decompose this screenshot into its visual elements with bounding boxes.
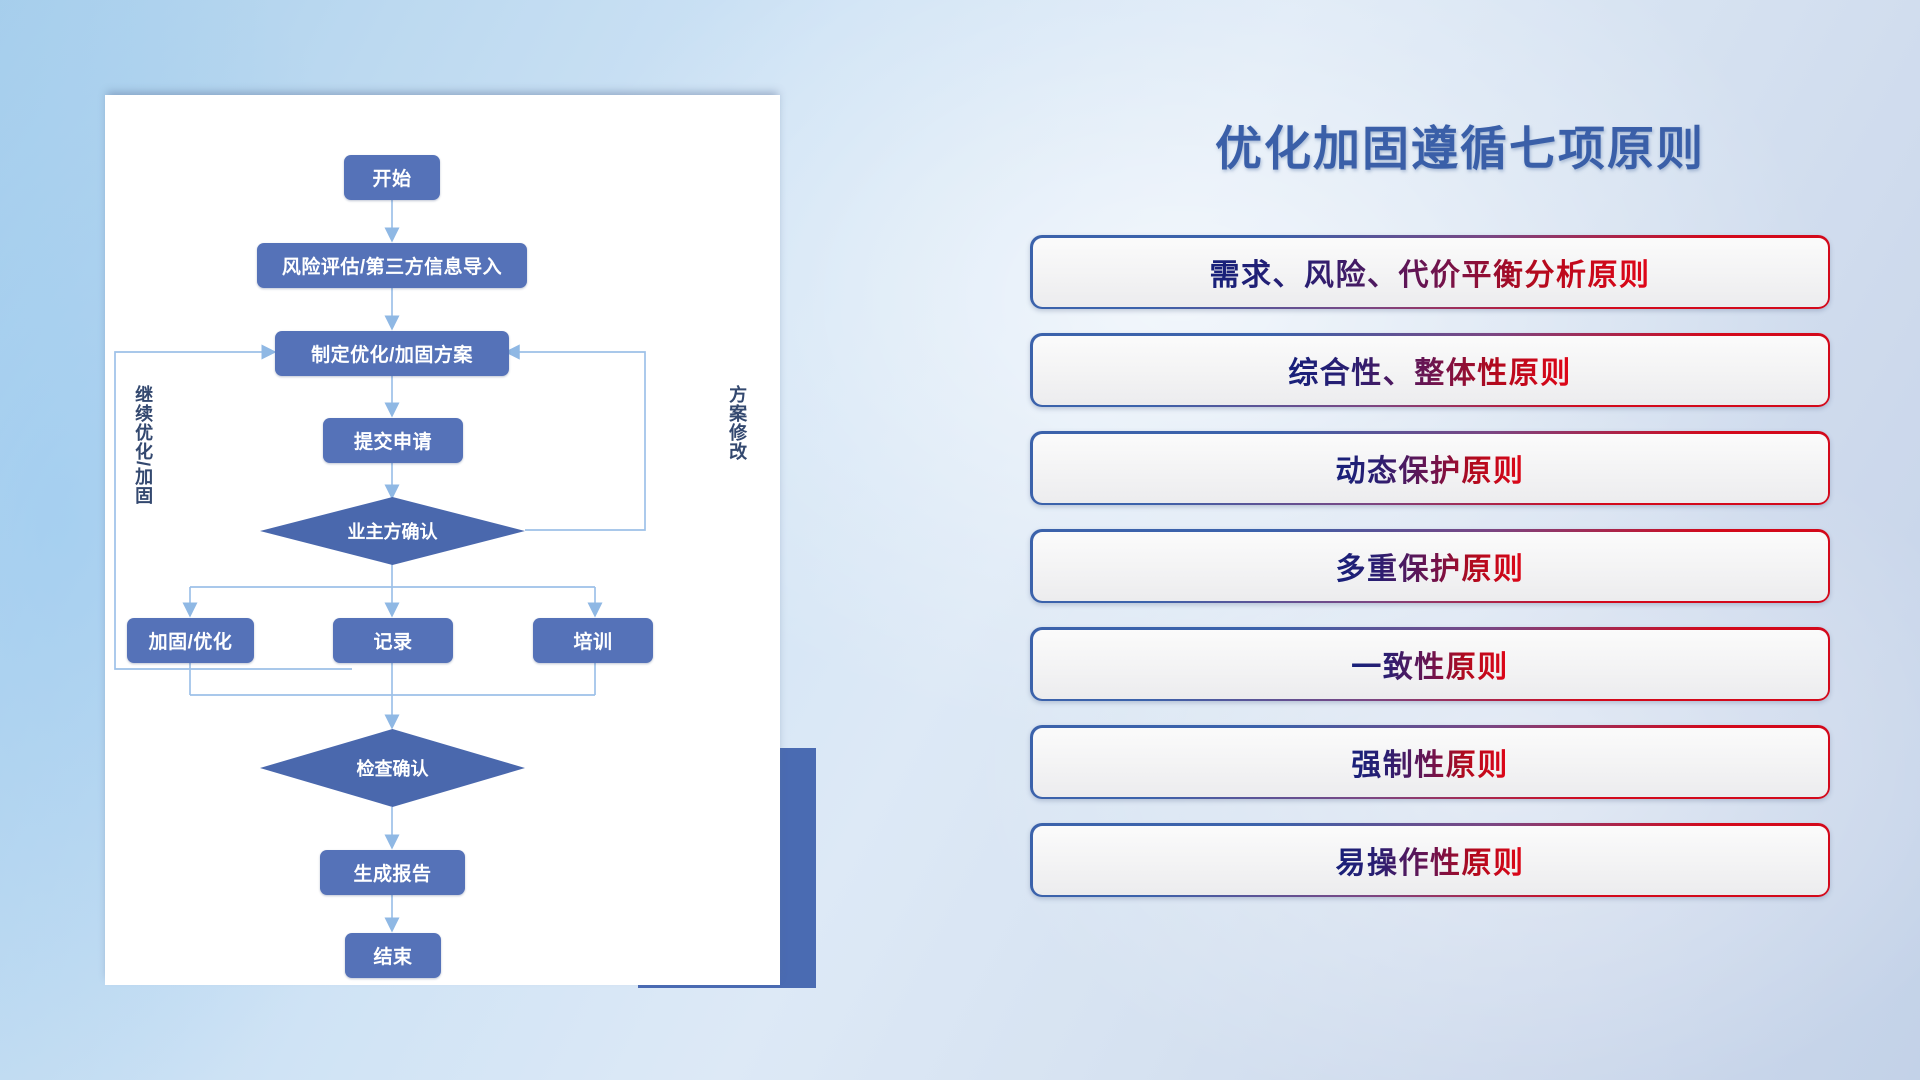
principle-card-label: 多重保护原则: [1336, 544, 1525, 588]
flow-node-end[interactable]: 结束: [345, 933, 441, 978]
principle-card-label: 一致性原则: [1351, 642, 1509, 686]
principles-list: 需求、风险、代价平衡分析原则 综合性、整体性原则 动态保护原则 多重保护原则 一…: [1030, 235, 1830, 921]
flow-node-generate-report[interactable]: 生成报告: [320, 850, 465, 895]
flow-edge-label-revise-plan: 方案修改: [727, 385, 746, 461]
principle-card[interactable]: 动态保护原则: [1030, 431, 1830, 505]
principle-card-inner: 一致性原则: [1033, 630, 1828, 699]
principle-card[interactable]: 需求、风险、代价平衡分析原则: [1030, 235, 1830, 309]
principle-card-inner: 多重保护原则: [1033, 532, 1828, 601]
flow-edge-label-continue-optimize: 继续优化/加固: [133, 385, 152, 505]
principle-card-inner: 易操作性原则: [1033, 826, 1828, 895]
flow-node-risk-assessment[interactable]: 风险评估/第三方信息导入: [257, 243, 527, 288]
slide-canvas: 开始 风险评估/第三方信息导入 制定优化/加固方案 提交申请 业主方确认 加固/…: [0, 0, 1920, 1080]
flow-node-submit-application[interactable]: 提交申请: [323, 418, 463, 463]
flow-node-record[interactable]: 记录: [333, 618, 453, 663]
principle-card[interactable]: 强制性原则: [1030, 725, 1830, 799]
principle-card-label: 综合性、整体性原则: [1288, 348, 1572, 392]
principle-card[interactable]: 一致性原则: [1030, 627, 1830, 701]
principle-card[interactable]: 综合性、整体性原则: [1030, 333, 1830, 407]
principle-card[interactable]: 多重保护原则: [1030, 529, 1830, 603]
flow-decision-owner-confirm[interactable]: 业主方确认: [260, 497, 525, 565]
flow-node-reinforce[interactable]: 加固/优化: [127, 618, 254, 663]
principle-card-label: 需求、风险、代价平衡分析原则: [1210, 250, 1651, 294]
flowchart-diagram: 开始 风险评估/第三方信息导入 制定优化/加固方案 提交申请 业主方确认 加固/…: [105, 95, 780, 985]
flow-node-plan[interactable]: 制定优化/加固方案: [275, 331, 509, 376]
flow-decision-check-confirm[interactable]: 检查确认: [260, 729, 525, 807]
flow-decision-check-confirm-label: 检查确认: [357, 755, 429, 781]
principle-card-inner: 需求、风险、代价平衡分析原则: [1033, 238, 1828, 307]
principle-card-inner: 综合性、整体性原则: [1033, 336, 1828, 405]
flow-decision-owner-confirm-label: 业主方确认: [348, 518, 438, 544]
page-title: 优化加固遵循七项原则: [1030, 110, 1890, 179]
flowchart-card: 开始 风险评估/第三方信息导入 制定优化/加固方案 提交申请 业主方确认 加固/…: [105, 95, 780, 985]
flow-node-start[interactable]: 开始: [344, 155, 440, 200]
flow-node-training[interactable]: 培训: [533, 618, 653, 663]
principle-card-inner: 强制性原则: [1033, 728, 1828, 797]
principle-card-label: 易操作性原则: [1336, 838, 1525, 882]
principle-card-label: 动态保护原则: [1336, 446, 1525, 490]
principle-card-label: 强制性原则: [1351, 740, 1509, 784]
principle-card[interactable]: 易操作性原则: [1030, 823, 1830, 897]
principle-card-inner: 动态保护原则: [1033, 434, 1828, 503]
